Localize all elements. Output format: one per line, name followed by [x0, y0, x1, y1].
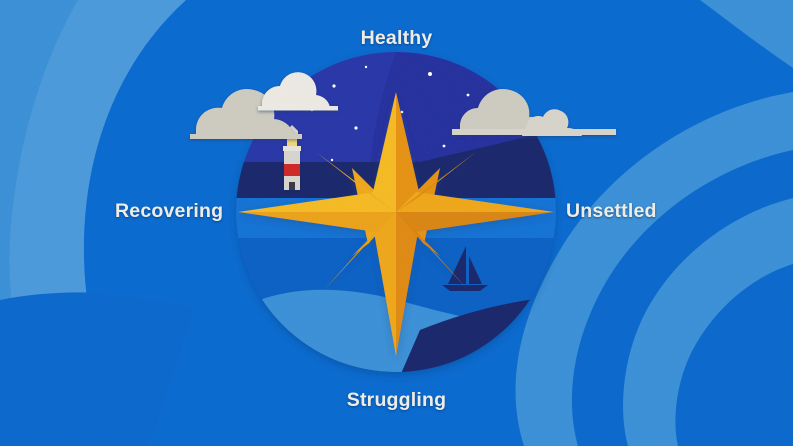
- scene-circle-group: [0, 0, 793, 446]
- compass-label-healthy: Healthy: [0, 27, 793, 50]
- compass-label-struggling: Struggling: [0, 389, 793, 412]
- compass-label-unsettled: Unsettled: [566, 200, 657, 223]
- illustration-canvas: Healthy Unsettled Struggling Recovering: [0, 0, 793, 446]
- compass-label-recovering: Recovering: [115, 200, 223, 223]
